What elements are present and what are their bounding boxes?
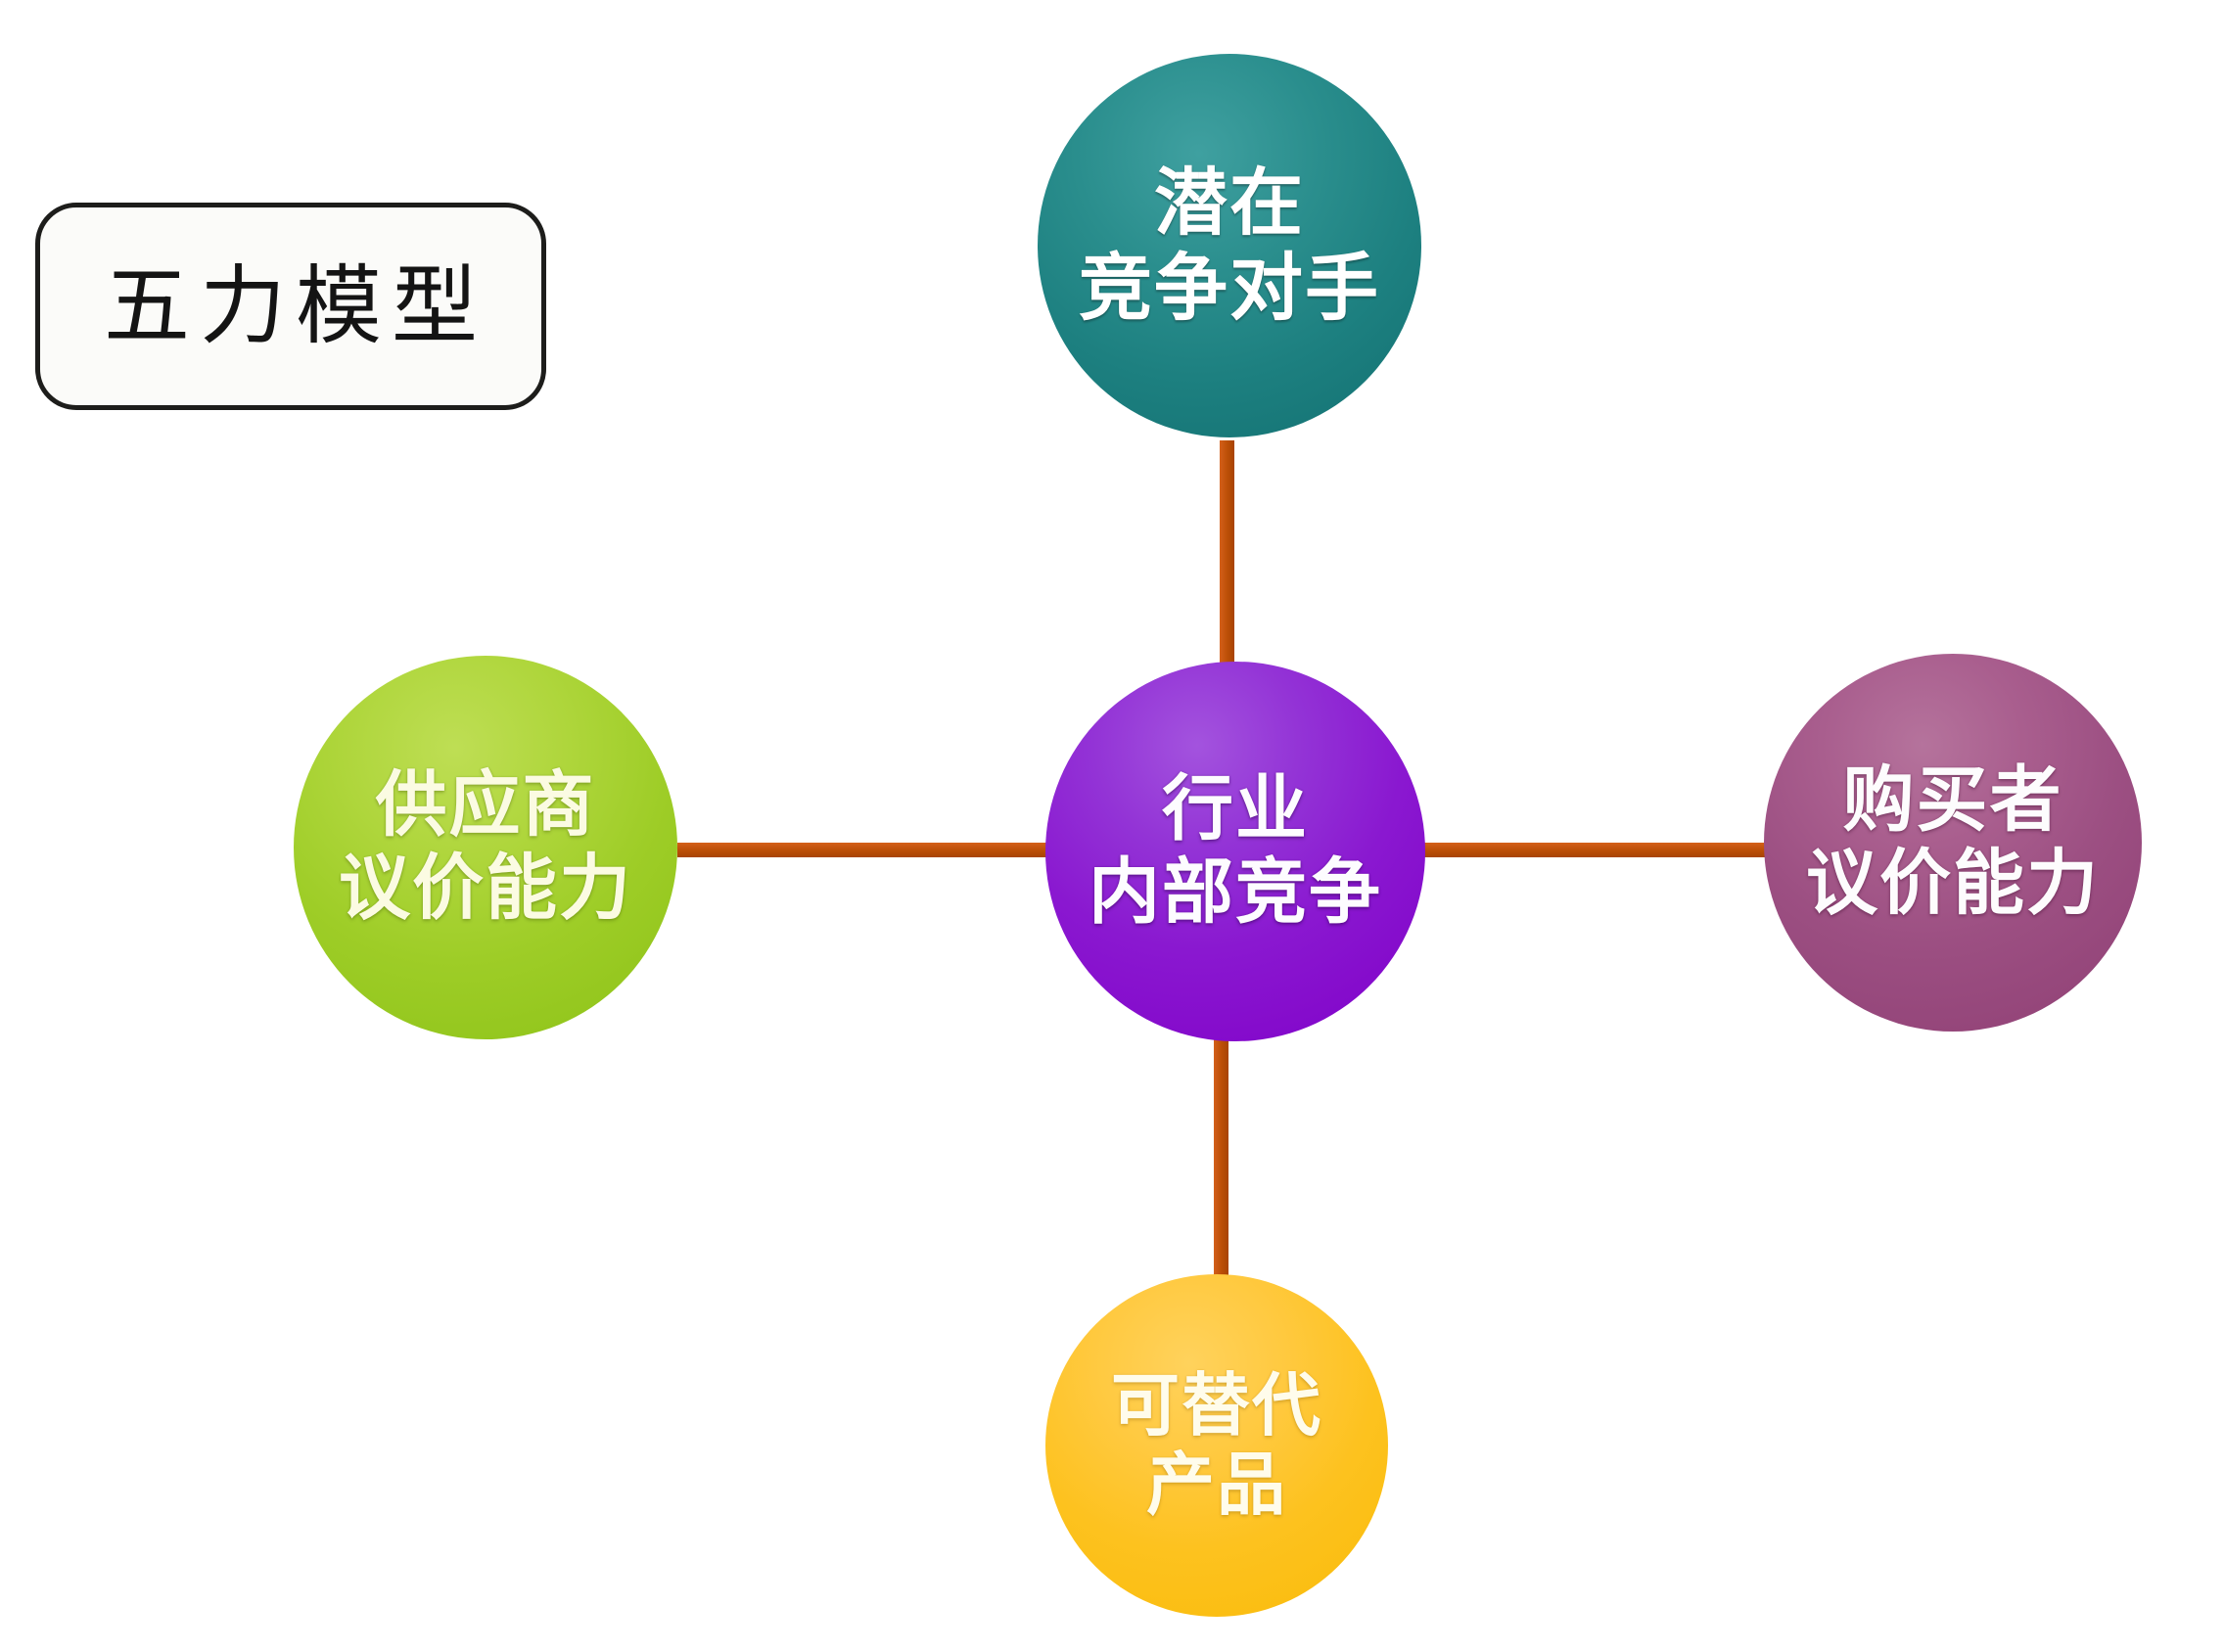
node-industry-rivalry-line2: 内部竞争 xyxy=(1089,851,1382,935)
connector-center-to-bottom xyxy=(1214,1037,1228,1282)
node-potential-competitors-line1: 潜在 xyxy=(1154,161,1305,246)
node-substitute-products-line1: 可替代 xyxy=(1111,1366,1322,1445)
node-substitute-products-line2: 产品 xyxy=(1146,1445,1287,1525)
node-supplier-bargaining-power-line1: 供应商 xyxy=(376,764,596,848)
connector-top-to-center xyxy=(1220,440,1234,665)
node-potential-competitors[interactable]: 潜在 竞争对手 xyxy=(1038,54,1421,437)
node-buyer-bargaining-power[interactable]: 购买者 议价能力 xyxy=(1764,654,2142,1032)
node-buyer-bargaining-power-line1: 购买者 xyxy=(1843,759,2063,843)
diagram-title-label: 五力模型 xyxy=(94,263,487,349)
node-supplier-bargaining-power-line2: 议价能力 xyxy=(339,848,632,931)
node-potential-competitors-line2: 竞争对手 xyxy=(1079,246,1380,331)
node-industry-rivalry-line1: 行业 xyxy=(1162,768,1309,851)
diagram-canvas: 五力模型 潜在 竞争对手 供应商 议价能力 行业 内部竞争 购买者 议价能力 可… xyxy=(0,0,2224,1652)
node-industry-rivalry[interactable]: 行业 内部竞争 xyxy=(1045,662,1425,1041)
node-buyer-bargaining-power-line2: 议价能力 xyxy=(1806,843,2100,926)
connector-center-to-right xyxy=(1422,843,1765,857)
diagram-title-badge: 五力模型 xyxy=(35,203,546,410)
connector-left-to-center xyxy=(677,843,1051,857)
node-supplier-bargaining-power[interactable]: 供应商 议价能力 xyxy=(294,656,677,1039)
node-substitute-products[interactable]: 可替代 产品 xyxy=(1045,1274,1388,1617)
